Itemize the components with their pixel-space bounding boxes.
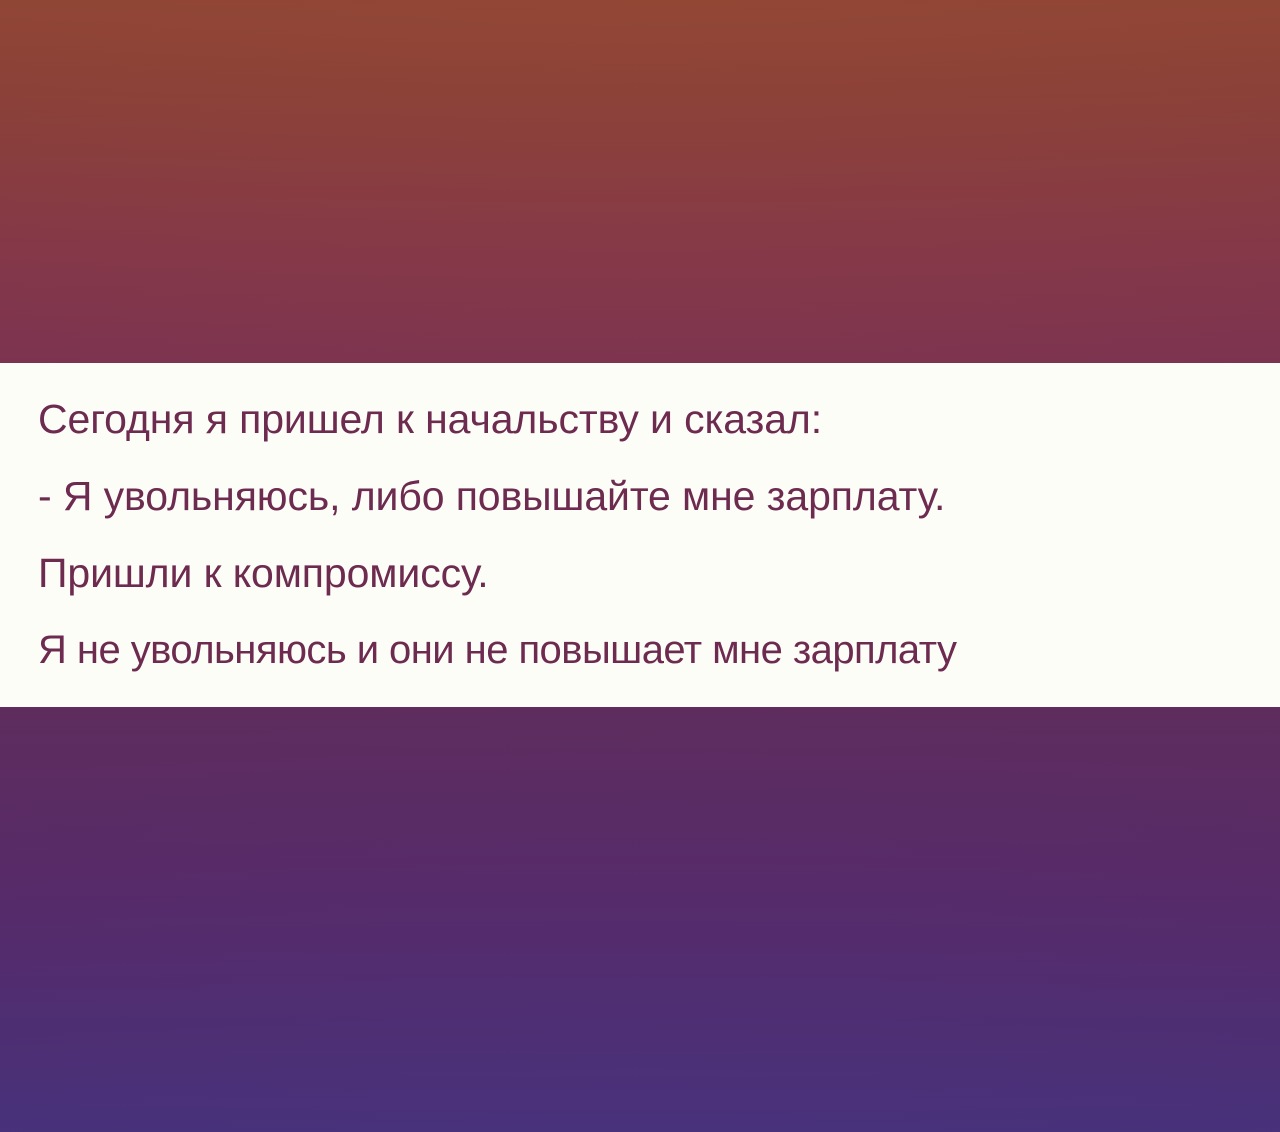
- quote-line-2: - Я увольняюсь, либо повышайте мне зарпл…: [38, 458, 1246, 535]
- quote-line-4: Я не увольняюсь и они не повышает мне за…: [38, 612, 1246, 689]
- quote-line-3: Пришли к компромиссу.: [38, 535, 1246, 612]
- quote-text-panel: Сегодня я пришел к начальству и сказал: …: [0, 363, 1280, 707]
- quote-card: Сегодня я пришел к начальству и сказал: …: [0, 0, 1280, 1132]
- quote-line-1: Сегодня я пришел к начальству и сказал:: [38, 381, 1246, 458]
